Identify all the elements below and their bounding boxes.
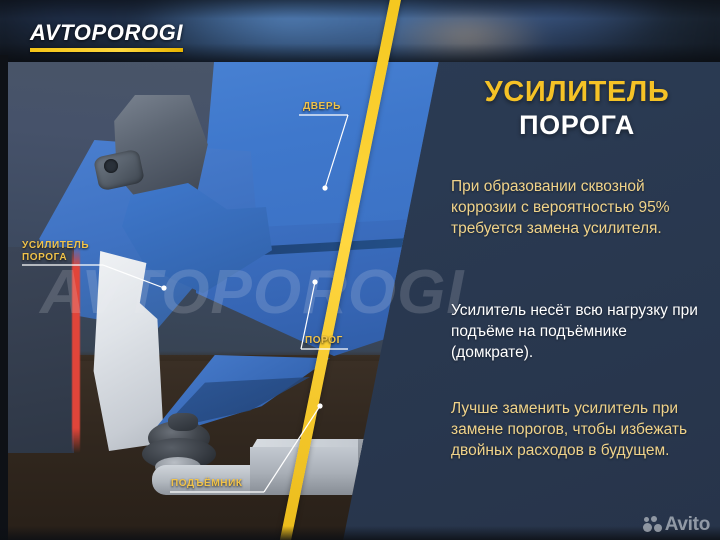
bottom-fade [0, 526, 720, 540]
text-panel: УСИЛИТЕЛЬ ПОРОГА При образовании сквозно… [443, 0, 711, 540]
diagram-label-door: ДВЕРЬ [303, 101, 341, 113]
diagram-label-sill: ПОРОГ [305, 335, 343, 347]
brand-logo-text: AVTOPOROGI [30, 22, 183, 44]
page-title-line1: УСИЛИТЕЛЬ [443, 78, 711, 107]
avito-watermark: Avito [643, 515, 710, 534]
promo-banner-image: AVTOPOROGI ДВЕРЬ УСИЛИТЕЛЬ ПОРОГА ПОРОГ … [0, 0, 720, 540]
page-title-line2: ПОРОГА [443, 112, 711, 139]
brand-logo-underline [30, 48, 183, 52]
diagram-label-lift: ПОДЪЁМНИК [171, 478, 243, 490]
body-paragraph-2: Усилитель несёт всю нагрузку при подъёме… [451, 300, 709, 363]
body-paragraph-1: При образовании сквозной коррозии с веро… [451, 176, 709, 239]
diagram-label-reinforcement: УСИЛИТЕЛЬ ПОРОГА [22, 240, 89, 264]
avito-wordmark: Avito [665, 515, 710, 534]
avito-logo-icon [643, 516, 662, 533]
cutaway-shadow-block [8, 247, 74, 453]
body-paragraph-3: Лучше заменить усилитель при замене поро… [451, 398, 709, 461]
lift-pad [250, 447, 368, 495]
corrosion-edge-marker [72, 247, 80, 453]
door-hinge-hole [104, 159, 118, 173]
jack-point-cap [168, 413, 198, 431]
brand-logo[interactable]: AVTOPOROGI [30, 22, 183, 52]
